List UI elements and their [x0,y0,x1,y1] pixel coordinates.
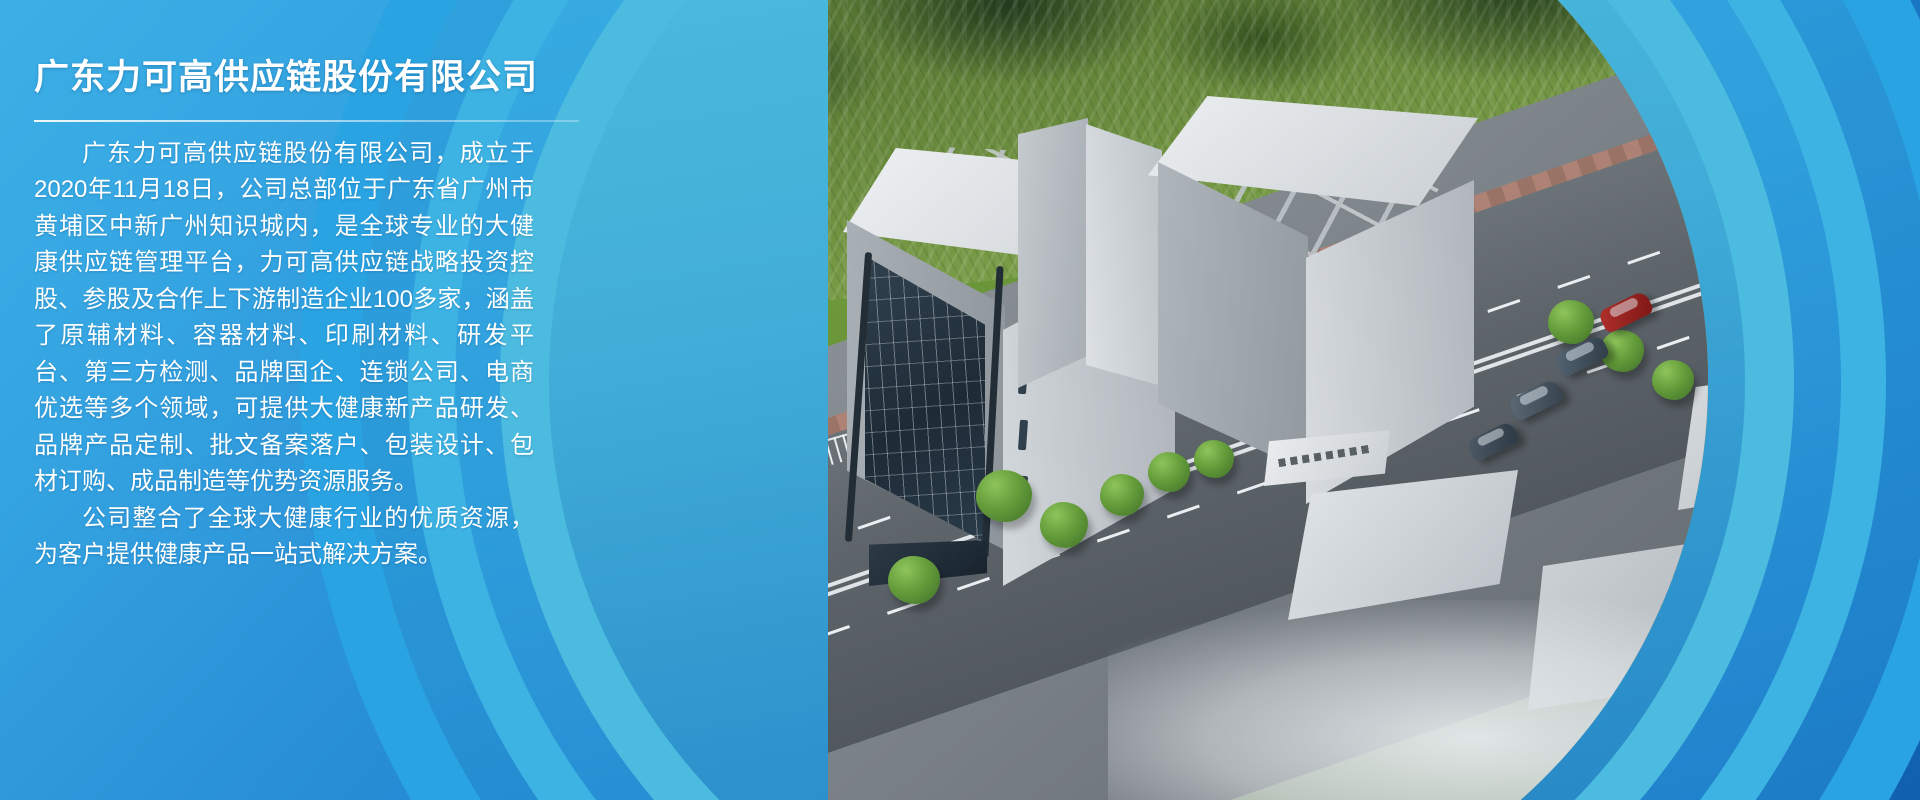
intro-paragraph-2: 公司整合了全球大健康行业的优质资源，为客户提供健康产品一站式解决方案。 [34,501,534,574]
intro-paragraph-1: 广东力可高供应链股份有限公司，成立于2020年11月18日，公司总部位于广东省广… [34,136,534,501]
campus-photo [828,0,1708,800]
link-block-left-facade [1018,118,1088,388]
atmospheric-haze-secondary [1468,640,1708,800]
tree-3 [1100,474,1144,516]
banner-stage: 广东力可高供应链股份有限公司 广东力可高供应链股份有限公司，成立于2020年11… [0,0,1920,800]
tree-5 [1194,440,1234,478]
campus-photo-scene [828,0,1708,800]
tree-6 [888,556,940,604]
tree-1 [976,470,1032,522]
intro-panel: 广东力可高供应链股份有限公司 广东力可高供应链股份有限公司，成立于2020年11… [0,0,620,800]
campus-photo-circle [588,0,1708,800]
building-secondary-tower [1148,96,1478,496]
tree-7 [1548,300,1594,344]
title-divider [34,120,579,122]
tree-4 [1148,452,1190,492]
tree-2 [1040,502,1088,548]
page-title: 广东力可高供应链股份有限公司 [34,56,620,100]
building-secondary-left-facade [1158,162,1308,472]
intro-body: 广东力可高供应链股份有限公司，成立于2020年11月18日，公司总部位于广东省广… [34,136,534,574]
building-link-block [1018,118,1168,418]
tree-9 [1652,360,1694,400]
